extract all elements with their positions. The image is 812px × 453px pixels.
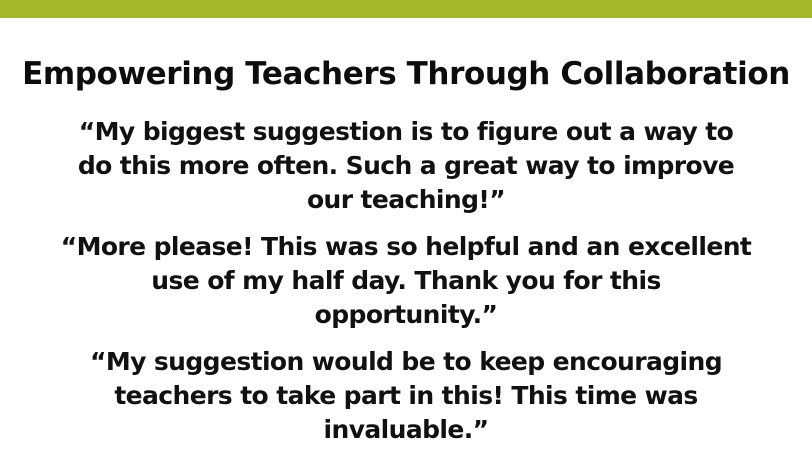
accent-bar	[0, 0, 812, 18]
page-title: Empowering Teachers Through Collaboratio…	[22, 18, 790, 93]
quote-block-3: “My suggestion would be to keep encourag…	[86, 345, 726, 447]
presentation-slide: Empowering Teachers Through Collaboratio…	[0, 0, 812, 453]
quote-block-1: “My biggest suggestion is to figure out …	[66, 115, 746, 217]
slide-content: Empowering Teachers Through Collaboratio…	[0, 18, 812, 453]
quote-block-2: “More please! This was so helpful and an…	[56, 230, 756, 332]
